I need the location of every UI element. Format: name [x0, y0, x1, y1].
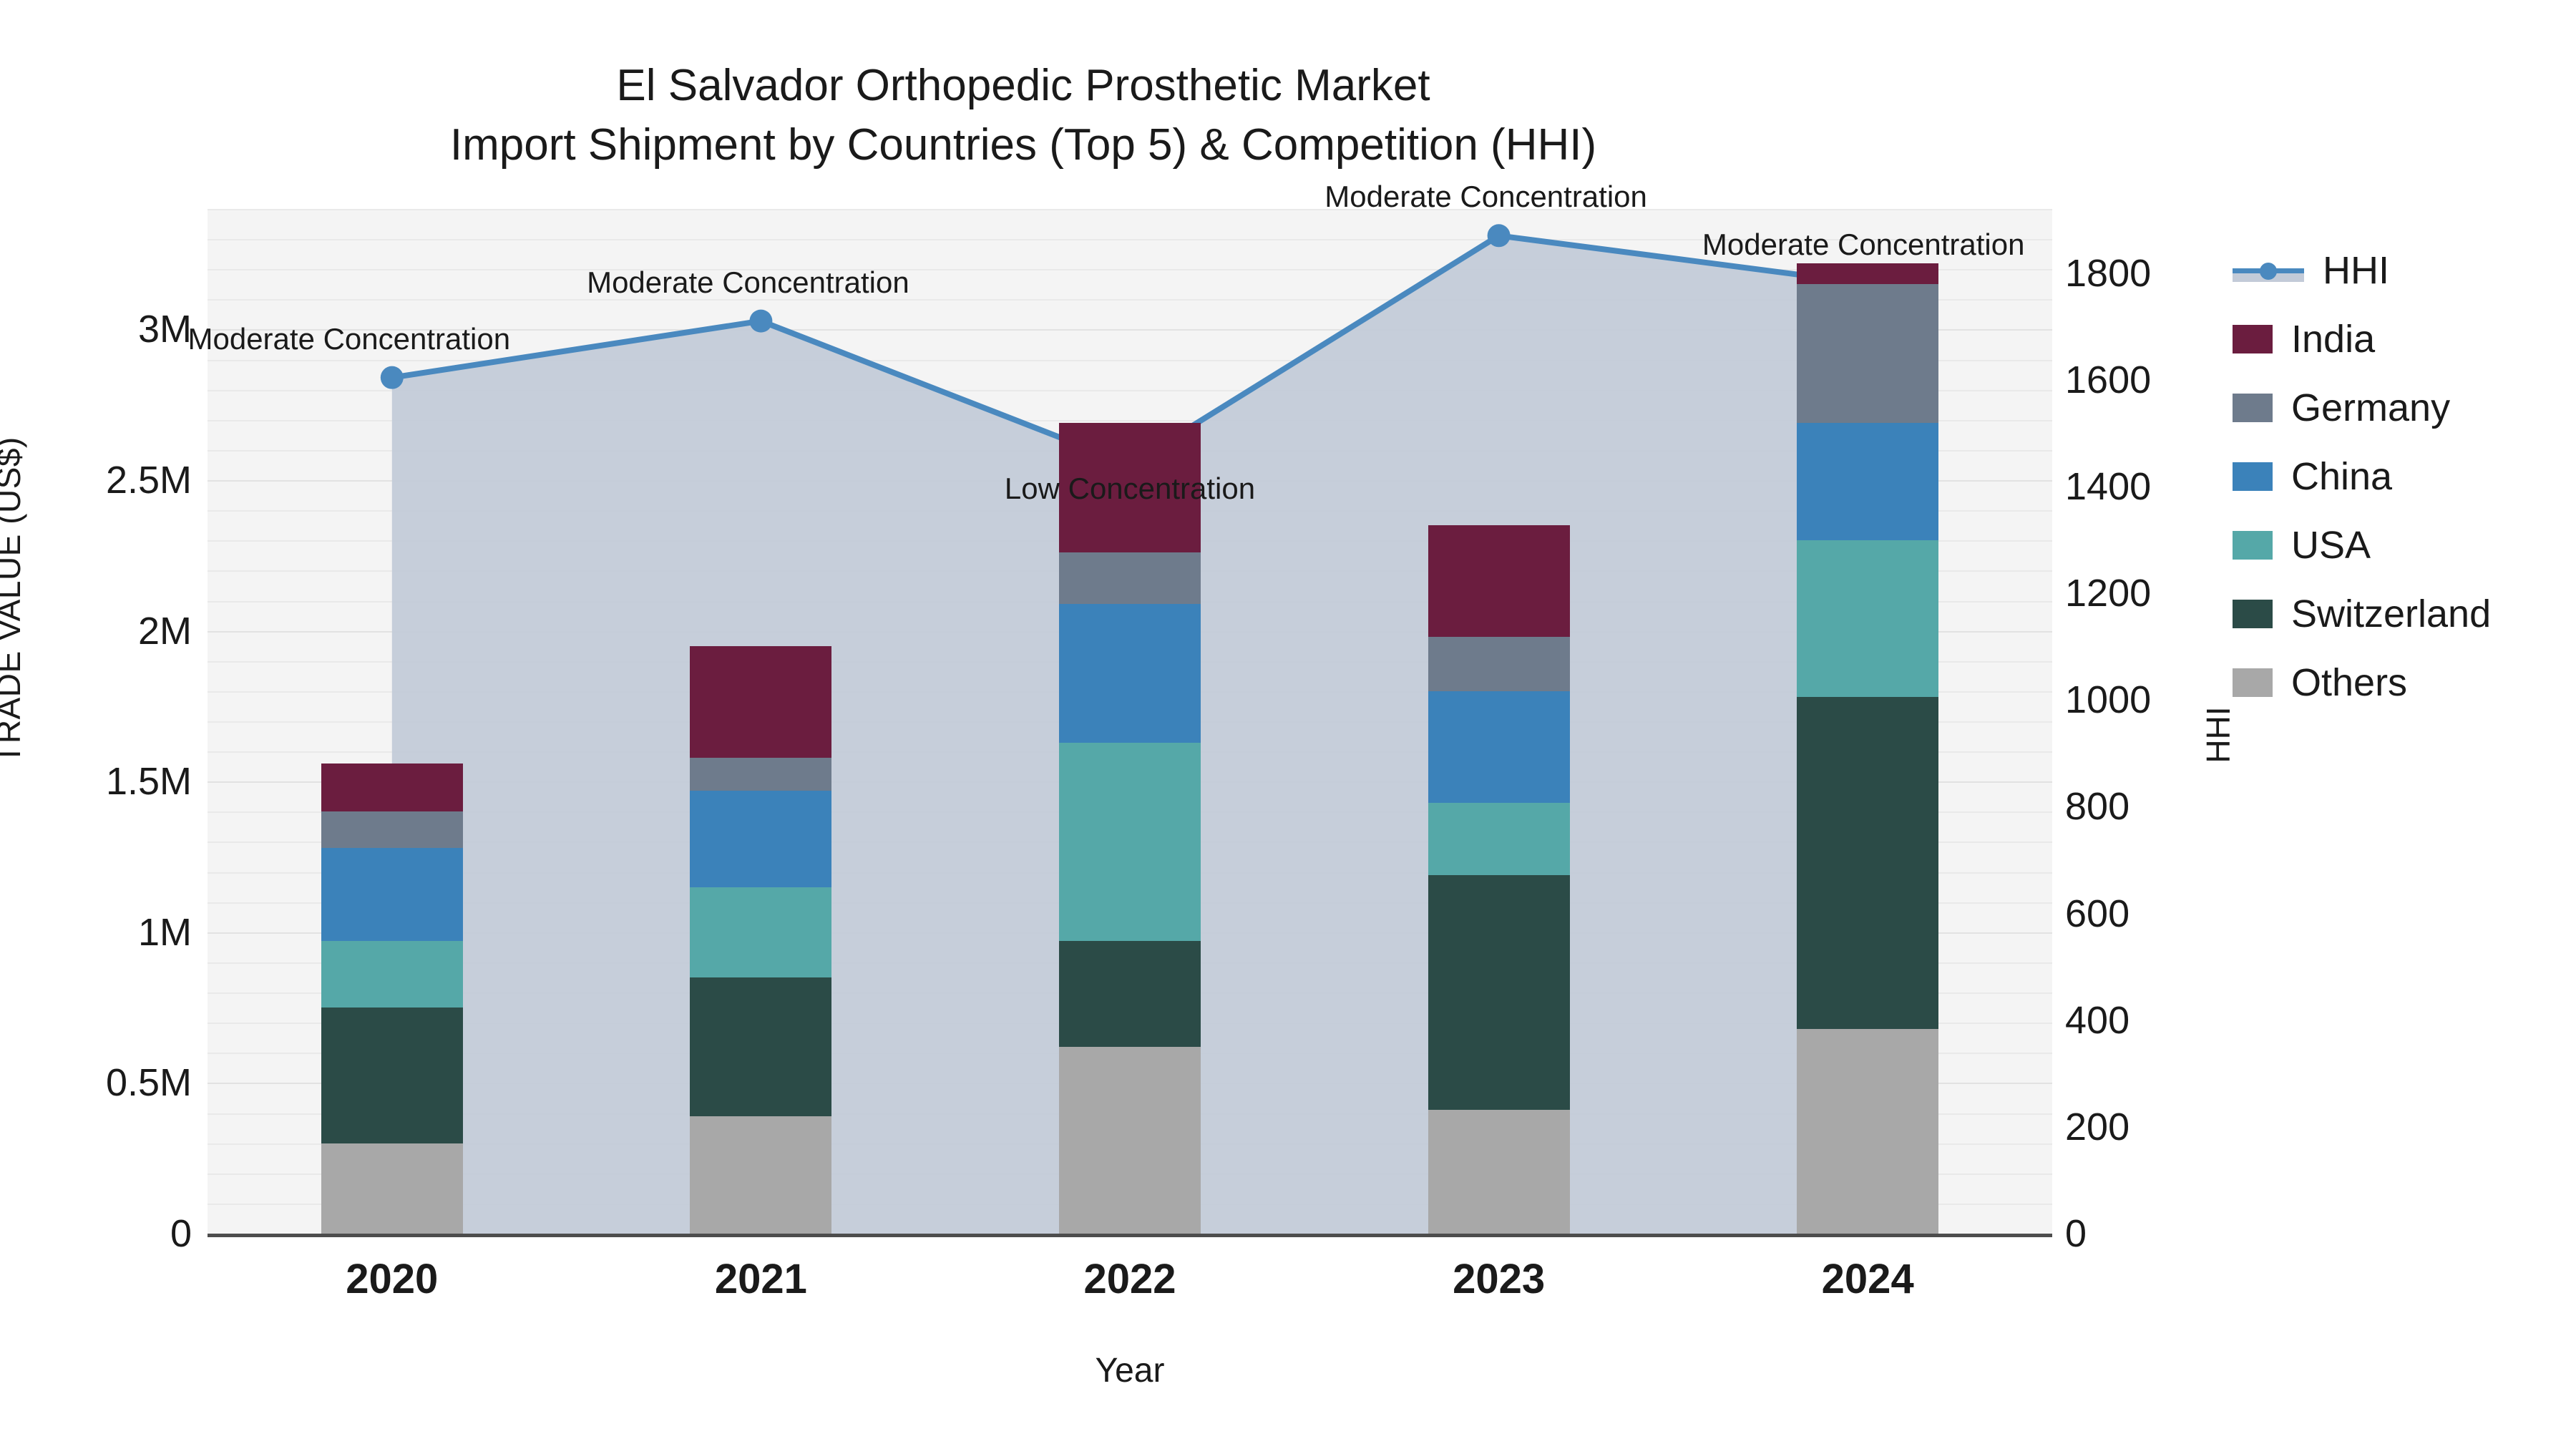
y-axis-left-tick: 1.5M: [106, 759, 192, 804]
legend-item-germany[interactable]: Germany: [2233, 374, 2569, 442]
y-axis-right-tick: 1400: [2065, 464, 2151, 509]
bar-segment-usa[interactable]: [690, 887, 831, 977]
bar-segment-switzerland[interactable]: [690, 977, 831, 1116]
x-axis-tick-2020: 2020: [346, 1255, 438, 1303]
gridline: [208, 299, 2052, 301]
bar-segment-china[interactable]: [690, 791, 831, 887]
bar-segment-others[interactable]: [321, 1143, 463, 1234]
y-axis-right-tick: 800: [2065, 784, 2129, 829]
bar-segment-germany[interactable]: [321, 811, 463, 848]
chart-legend: HHIIndiaGermanyChinaUSASwitzerlandOthers: [2233, 236, 2569, 717]
y-axis-left-tick: 2M: [138, 609, 192, 653]
legend-item-label: India: [2291, 317, 2375, 361]
bar-segment-usa[interactable]: [321, 941, 463, 1008]
bar-column-2020[interactable]: [321, 763, 463, 1234]
x-axis-line: [208, 1234, 2052, 1237]
y-axis-left-tick: 0: [170, 1211, 192, 1256]
bar-segment-switzerland[interactable]: [1428, 875, 1570, 1111]
hhi-annotation: Low Concentration: [1005, 472, 1255, 506]
bar-segment-switzerland[interactable]: [1059, 941, 1201, 1046]
bar-column-2021[interactable]: [690, 646, 831, 1234]
bar-segment-usa[interactable]: [1797, 540, 1938, 697]
bar-segment-usa[interactable]: [1059, 743, 1201, 942]
legend-color-swatch: [2233, 394, 2273, 422]
y-axis-right-tick: 400: [2065, 998, 2129, 1043]
bar-segment-germany[interactable]: [1059, 552, 1201, 604]
y-axis-left-tick: 3M: [138, 307, 192, 351]
y-axis-right-tick: 1000: [2065, 678, 2151, 722]
legend-item-switzerland[interactable]: Switzerland: [2233, 580, 2569, 648]
legend-item-label: HHI: [2323, 248, 2389, 293]
legend-item-label: Others: [2291, 660, 2407, 705]
y-axis-right-tick: 200: [2065, 1105, 2129, 1149]
chart-canvas: El Salvador Orthopedic Prosthetic Market…: [0, 0, 2576, 1449]
x-axis-tick-2022: 2022: [1083, 1255, 1176, 1303]
bar-segment-china[interactable]: [1059, 604, 1201, 743]
hhi-annotation: Moderate Concentration: [1702, 228, 2025, 262]
bar-segment-others[interactable]: [1059, 1047, 1201, 1234]
gridline: [208, 390, 2052, 391]
hhi-annotation: Moderate Concentration: [187, 322, 510, 356]
gridline: [208, 209, 2052, 210]
y-axis-right-tick: 1600: [2065, 358, 2151, 402]
legend-dot-icon: [2260, 263, 2277, 280]
bar-segment-india[interactable]: [1428, 525, 1570, 637]
legend-line-marker-icon: [2233, 256, 2304, 285]
legend-item-others[interactable]: Others: [2233, 648, 2569, 717]
bar-segment-switzerland[interactable]: [321, 1008, 463, 1143]
legend-color-swatch: [2233, 531, 2273, 560]
legend-item-india[interactable]: India: [2233, 305, 2569, 374]
y-axis-right-ticks: 020040060080010001200140016001800: [2065, 0, 2280, 1449]
bar-column-2022[interactable]: [1059, 423, 1201, 1234]
legend-item-label: China: [2291, 454, 2392, 499]
x-axis-tick-2021: 2021: [715, 1255, 807, 1303]
y-axis-right-label: HHI: [2199, 656, 2238, 814]
gridline: [208, 269, 2052, 270]
bar-segment-others[interactable]: [690, 1116, 831, 1234]
y-axis-left-tick: 2.5M: [106, 458, 192, 502]
y-axis-left-tick: 0.5M: [106, 1060, 192, 1105]
legend-item-hhi[interactable]: HHI: [2233, 236, 2569, 305]
bar-segment-germany[interactable]: [1797, 284, 1938, 423]
bar-segment-china[interactable]: [321, 848, 463, 942]
y-axis-left-tick: 1M: [138, 910, 192, 955]
x-axis-label: Year: [208, 1351, 2052, 1390]
legend-color-swatch: [2233, 668, 2273, 697]
bar-segment-germany[interactable]: [1428, 637, 1570, 691]
y-axis-left-label: TRADE VALUE (US$): [0, 414, 28, 786]
y-axis-left-ticks: 00.5M1M1.5M2M2.5M3M: [0, 0, 192, 1449]
legend-color-swatch: [2233, 325, 2273, 353]
legend-item-usa[interactable]: USA: [2233, 511, 2569, 580]
bar-segment-others[interactable]: [1428, 1110, 1570, 1234]
bar-segment-china[interactable]: [1797, 423, 1938, 540]
legend-item-label: USA: [2291, 523, 2371, 567]
gridline: [208, 420, 2052, 421]
bar-column-2024[interactable]: [1797, 263, 1938, 1234]
bar-segment-germany[interactable]: [690, 758, 831, 791]
legend-item-label: Switzerland: [2291, 592, 2491, 636]
hhi-annotation: Moderate Concentration: [587, 265, 909, 300]
x-axis-tick-2023: 2023: [1453, 1255, 1545, 1303]
bar-segment-others[interactable]: [1797, 1029, 1938, 1234]
chart-title-line-2: Import Shipment by Countries (Top 5) & C…: [0, 115, 2046, 175]
legend-item-china[interactable]: China: [2233, 442, 2569, 511]
legend-color-swatch: [2233, 600, 2273, 628]
chart-title: El Salvador Orthopedic Prosthetic Market…: [0, 56, 2046, 175]
bar-segment-switzerland[interactable]: [1797, 697, 1938, 1028]
y-axis-right-tick: 0: [2065, 1211, 2087, 1256]
gridline: [208, 360, 2052, 361]
hhi-annotation: Moderate Concentration: [1324, 180, 1647, 214]
bar-segment-india[interactable]: [690, 646, 831, 758]
bar-segment-usa[interactable]: [1428, 803, 1570, 875]
y-axis-right-tick: 1200: [2065, 571, 2151, 615]
legend-item-label: Germany: [2291, 386, 2450, 430]
bar-column-2023[interactable]: [1428, 525, 1570, 1234]
x-axis-tick-2024: 2024: [1822, 1255, 1914, 1303]
bar-segment-india[interactable]: [1797, 263, 1938, 284]
y-axis-right-tick: 600: [2065, 892, 2129, 936]
bar-segment-india[interactable]: [321, 763, 463, 811]
chart-title-line-1: El Salvador Orthopedic Prosthetic Market: [0, 56, 2046, 115]
y-axis-right-tick: 1800: [2065, 251, 2151, 296]
bar-segment-china[interactable]: [1428, 691, 1570, 803]
legend-color-swatch: [2233, 462, 2273, 491]
